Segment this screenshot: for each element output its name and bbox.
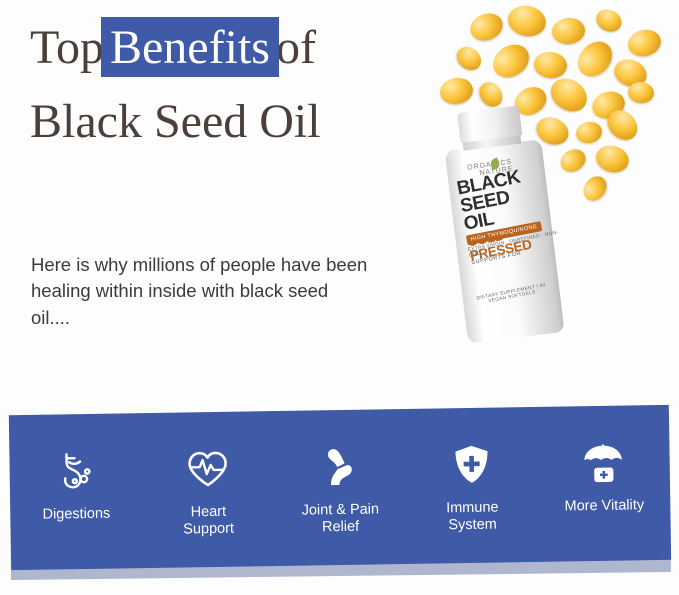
softgel-capsule	[593, 5, 626, 36]
benefit-digestions: Digestions	[9, 413, 143, 570]
headline-word-of: of	[276, 24, 316, 72]
product-photo: ORGANICS NATURE BLACK SEED OIL COLD PRES…	[400, 0, 679, 380]
softgel-capsule	[551, 16, 587, 45]
headline-word-benefits: Benefits	[110, 21, 270, 74]
softgel-capsule	[438, 75, 475, 106]
benefits-band: Digestions Heart Support	[0, 402, 679, 595]
softgel-capsule	[475, 78, 507, 111]
benefits-row: Digestions Heart Support	[9, 405, 671, 570]
softgel-capsule	[579, 172, 612, 205]
shield-plus-icon	[448, 442, 495, 489]
headline-line-2: Black Seed Oil	[30, 98, 450, 146]
benefit-label: Immune System	[415, 499, 531, 536]
knee-joint-icon	[316, 444, 363, 491]
heartbeat-icon	[184, 446, 231, 493]
headline-line-1: Top Benefits of	[30, 24, 450, 86]
headline-block: Top Benefits of Black Seed Oil	[30, 24, 450, 146]
softgel-capsule	[545, 72, 593, 118]
benefit-heart-support: Heart Support	[141, 411, 275, 568]
umbrella-firstaid-icon	[580, 439, 627, 486]
benefit-joint-pain-relief: Joint & Pain Relief	[273, 409, 407, 566]
softgel-capsule	[466, 9, 506, 45]
softgel-capsule	[487, 38, 535, 84]
softgel-capsule	[533, 50, 569, 79]
softgel-capsule	[571, 35, 619, 83]
intro-paragraph: Here is why millions of people have been…	[31, 252, 371, 331]
softgel-capsule	[627, 80, 656, 104]
softgel-capsule	[625, 26, 663, 59]
benefit-label: More Vitality	[547, 497, 662, 516]
softgel-capsule	[593, 142, 632, 176]
headline-highlight: Benefits	[110, 24, 270, 72]
benefit-more-vitality: More Vitality	[537, 405, 671, 562]
benefit-immune-system: Immune System	[405, 407, 539, 564]
softgel-capsule	[505, 2, 548, 39]
promo-graphic: Top Benefits of Black Seed Oil Here is w…	[0, 0, 679, 595]
softgel-capsule	[574, 120, 604, 146]
stomach-icon	[52, 448, 99, 495]
softgel-capsule	[452, 42, 485, 75]
benefit-label: Heart Support	[151, 503, 267, 540]
softgel-capsule	[556, 145, 589, 176]
benefit-label: Joint & Pain Relief	[283, 501, 399, 538]
headline-word-top: Top	[30, 24, 104, 72]
benefit-label: Digestions	[19, 505, 134, 524]
